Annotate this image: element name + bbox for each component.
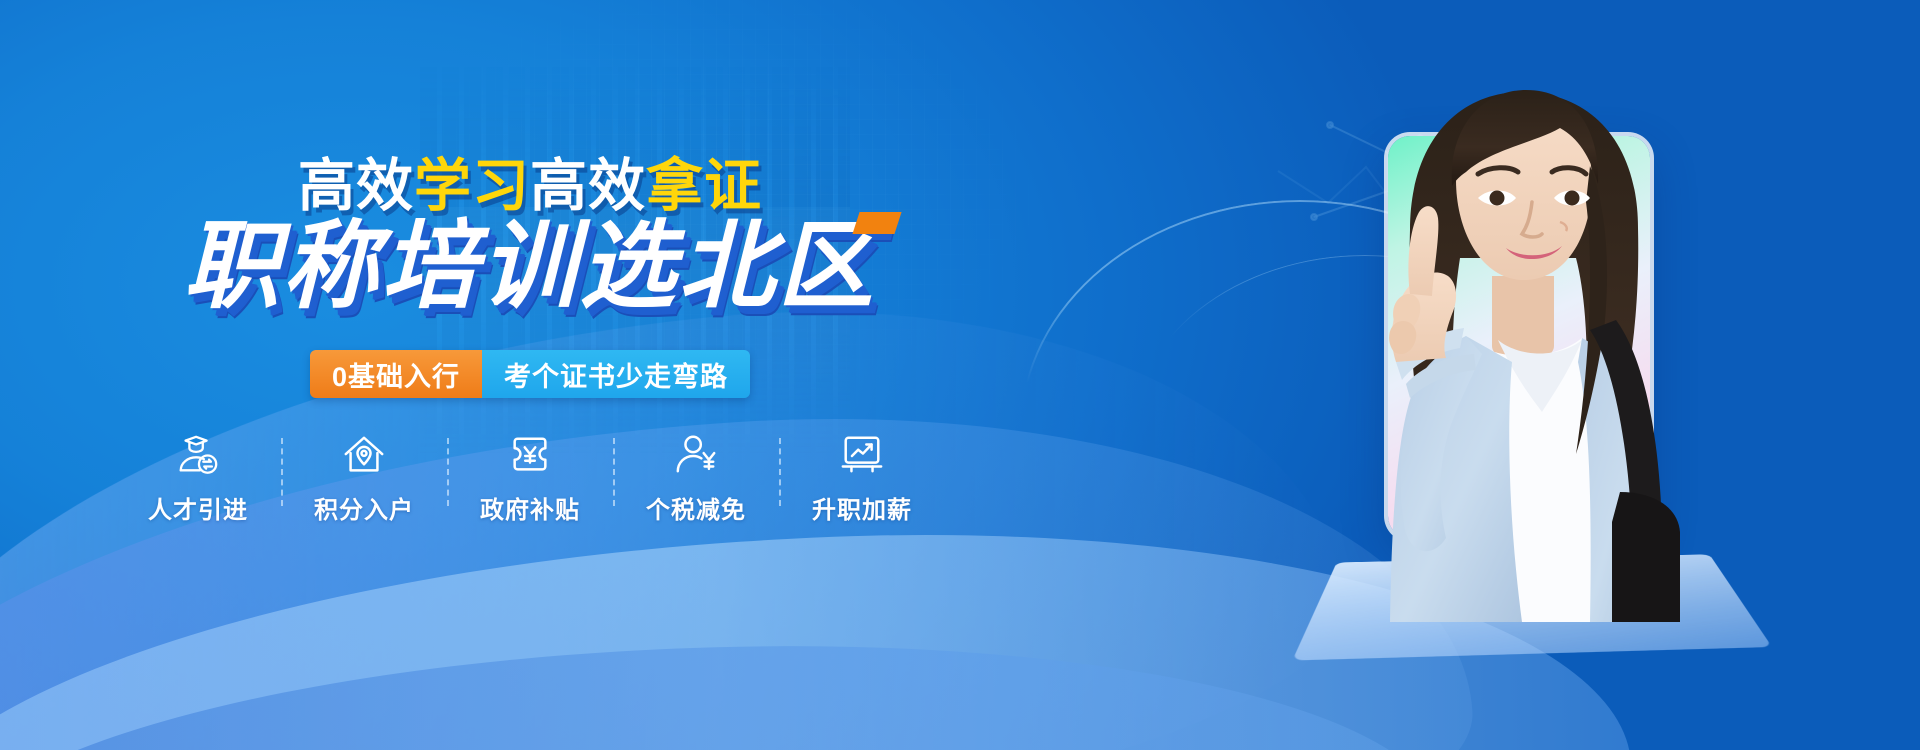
person-yuan-icon [673, 432, 719, 478]
feature-item-talent-introduction[interactable]: 人才引进 [115, 432, 281, 525]
tagline-badge[interactable]: 0基础入行 考个证书少走弯路 [310, 350, 750, 398]
feature-item-promotion-raise[interactable]: 升职加薪 [779, 432, 945, 525]
feature-label: 升职加薪 [812, 490, 912, 525]
main-headline-text: 职称培训选北区 [184, 213, 877, 320]
feature-list: 人才引进 积分入户 [0, 432, 1060, 525]
sub-headline-part-4: 拿证 [646, 154, 762, 218]
main-headline: 职称培训选北区 [184, 218, 877, 316]
promo-banner: 高效学习高效拿证 职称培训选北区 0基础入行 考个证书少走弯路 [0, 0, 1920, 750]
smiling-woman-pointing-up-photo [1260, 62, 1740, 622]
sub-headline-part-3: 高效 [530, 154, 646, 218]
sub-headline: 高效学习高效拿证 [0, 156, 1060, 216]
graduate-person-exchange-icon [175, 432, 221, 478]
feature-label: 人才引进 [148, 490, 248, 525]
main-headline-wrap: 职称培训选北区 [0, 218, 1060, 316]
chart-board-rising-icon [839, 432, 885, 478]
feature-item-points-residency[interactable]: 积分入户 [281, 432, 447, 525]
feature-label: 政府补贴 [480, 490, 580, 525]
badge-row: 0基础入行 考个证书少走弯路 [0, 350, 1060, 398]
house-location-pin-icon [341, 432, 387, 478]
sub-headline-part-1: 高效 [298, 154, 414, 218]
badge-left-label: 0基础入行 [310, 350, 482, 398]
orange-accent-mark-icon [852, 212, 901, 234]
badge-right-label: 考个证书少走弯路 [482, 350, 750, 398]
feature-item-tax-reduction[interactable]: 个税减免 [613, 432, 779, 525]
ticket-yuan-icon [507, 432, 553, 478]
feature-item-government-subsidy[interactable]: 政府补贴 [447, 432, 613, 525]
feature-label: 积分入户 [314, 490, 414, 525]
banner-content: 高效学习高效拿证 职称培训选北区 0基础入行 考个证书少走弯路 [0, 0, 1120, 750]
sub-headline-part-2: 学习 [414, 154, 530, 218]
hero-figure-zone [1120, 0, 1920, 750]
feature-label: 个税减免 [646, 490, 746, 525]
